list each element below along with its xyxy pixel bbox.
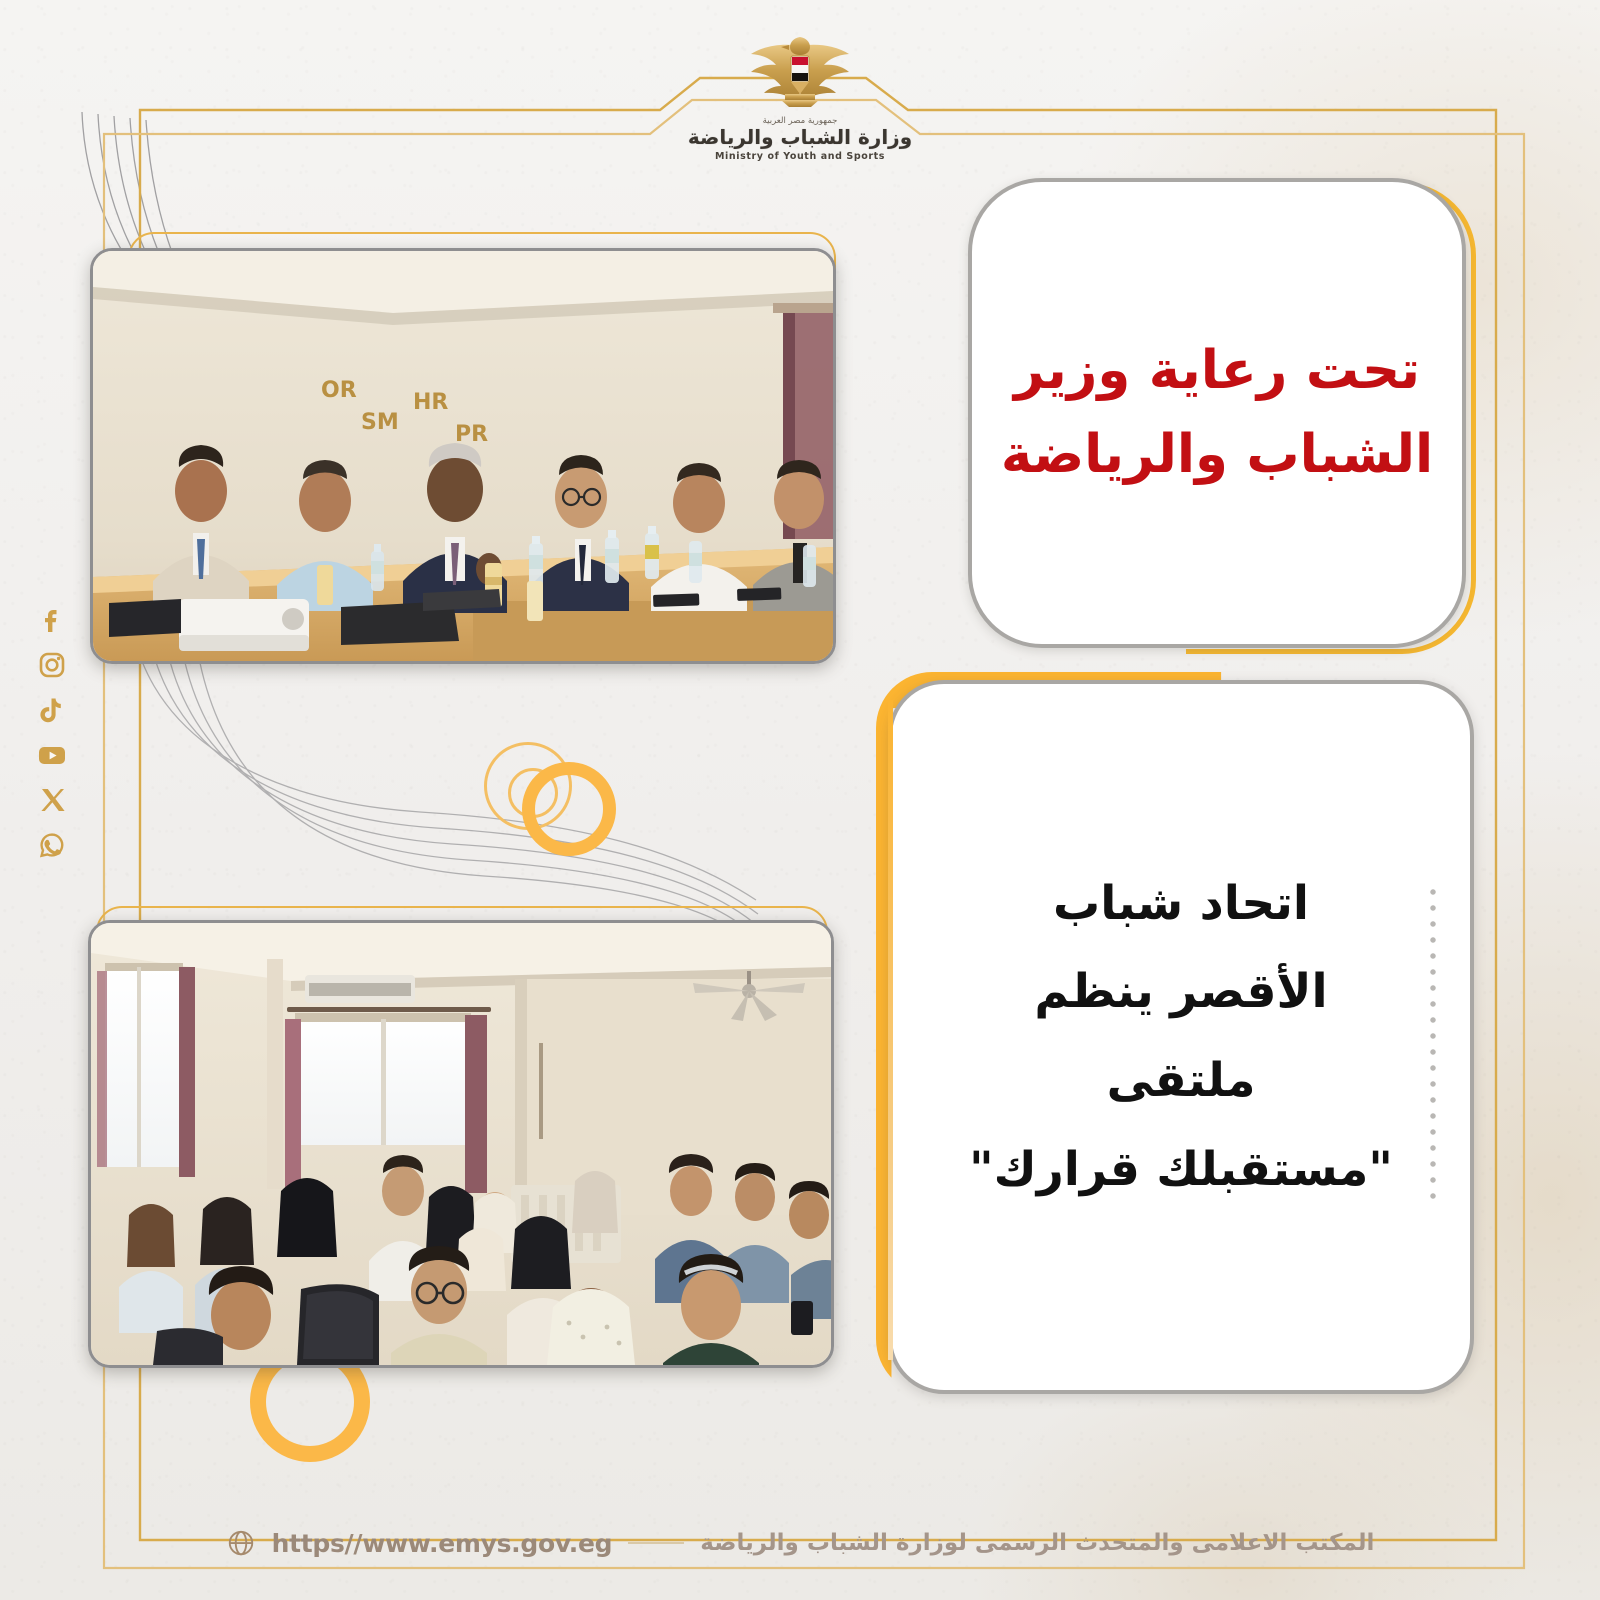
- panel-discussion-photo: OR SM HR PR: [90, 248, 836, 664]
- youtube-icon[interactable]: [36, 739, 68, 771]
- globe-icon: [226, 1528, 256, 1558]
- instagram-icon[interactable]: [36, 649, 68, 681]
- svg-text:HR: HR: [413, 390, 448, 415]
- x-twitter-icon[interactable]: [36, 784, 68, 816]
- svg-text:OR: OR: [321, 378, 357, 403]
- tiktok-icon[interactable]: [36, 694, 68, 726]
- event-line-2: الأقصر ينظم: [1034, 966, 1327, 1019]
- poster-canvas: جمهورية مصر العربية وزارة الشباب والرياض…: [0, 0, 1600, 1600]
- event-card-accent-line: [888, 700, 893, 1360]
- patronage-line-1: تحت رعاية وزير: [1014, 342, 1420, 400]
- social-media-rail: [30, 604, 74, 861]
- footer-divider: [628, 1542, 684, 1544]
- footer-arabic-text: المكتب الاعلامى والمتحدث الرسمى لوزارة ا…: [700, 1530, 1374, 1556]
- event-line-3: ملتقى: [1107, 1055, 1256, 1108]
- logo-ministry-arabic: وزارة الشباب والرياضة: [685, 127, 915, 148]
- event-card-dotted-rule: [1430, 884, 1436, 1204]
- decor-ring-solid: [522, 762, 616, 856]
- svg-text:PR: PR: [455, 422, 488, 447]
- audience-photo: [88, 920, 834, 1368]
- patronage-line-2: الشباب والرياضة: [1001, 426, 1433, 484]
- svg-text:SM: SM: [361, 410, 399, 435]
- patronage-card: تحت رعاية وزير الشباب والرياضة: [968, 178, 1466, 648]
- footer-url[interactable]: https//www.emys.gov.eg: [272, 1529, 613, 1558]
- logo-ministry-english: Ministry of Youth and Sports: [685, 151, 915, 162]
- event-line-4: "مستقبلك قرارك": [969, 1144, 1393, 1197]
- event-card: اتحاد شباب الأقصر ينظم ملتقى "مستقبلك قر…: [888, 680, 1474, 1394]
- event-line-1: اتحاد شباب: [1053, 878, 1309, 931]
- facebook-icon[interactable]: [36, 604, 68, 636]
- whatsapp-icon[interactable]: [36, 829, 68, 861]
- egypt-eagle-emblem-icon: [741, 34, 859, 110]
- footer-bar: المكتب الاعلامى والمتحدث الرسمى لوزارة ا…: [0, 1520, 1600, 1566]
- ministry-logo: جمهورية مصر العربية وزارة الشباب والرياض…: [685, 34, 915, 162]
